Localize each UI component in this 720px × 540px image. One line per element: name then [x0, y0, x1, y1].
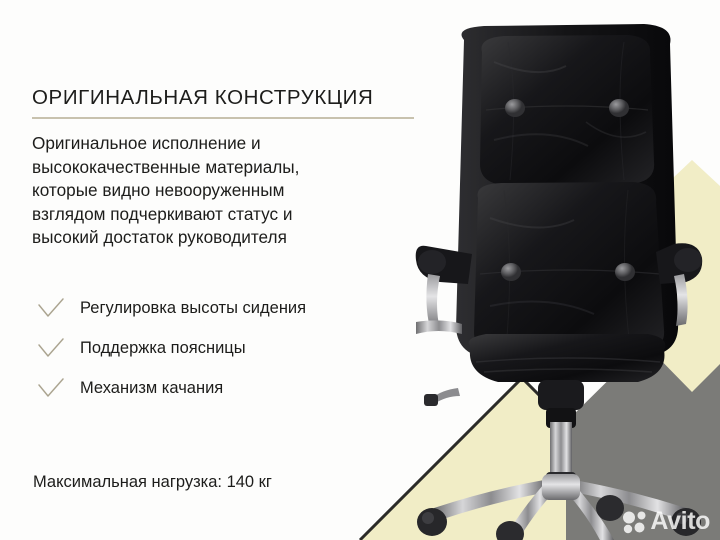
avito-dots-icon	[622, 510, 648, 534]
body-line: Оригинальное исполнение и	[32, 132, 432, 156]
list-item: Поддержка поясницы	[36, 328, 436, 368]
list-item-label: Поддержка поясницы	[80, 339, 246, 358]
check-icon	[36, 375, 66, 401]
title-divider	[32, 117, 414, 119]
background-shapes	[0, 0, 720, 540]
feature-list: Регулировка высоты сидения Поддержка поя…	[36, 288, 436, 408]
check-icon	[36, 295, 66, 321]
body-line: высокий достаток руководителя	[32, 226, 432, 250]
text-column: ОРИГИНАЛЬНАЯ КОНСТРУКЦИЯ Оригинальное ис…	[32, 86, 432, 250]
list-item-label: Регулировка высоты сидения	[80, 299, 306, 318]
avito-wordmark: Avito	[650, 509, 710, 534]
list-item: Механизм качания	[36, 368, 436, 408]
list-item-label: Механизм качания	[80, 379, 223, 398]
promo-card: ОРИГИНАЛЬНАЯ КОНСТРУКЦИЯ Оригинальное ис…	[0, 0, 720, 540]
body-line: высококачественные материалы,	[32, 156, 432, 180]
body-line: взглядом подчеркивают статус и	[32, 203, 432, 227]
max-load-note: Максимальная нагрузка: 140 кг	[33, 473, 272, 492]
check-icon	[36, 335, 66, 361]
list-item: Регулировка высоты сидения	[36, 288, 436, 328]
body-copy: Оригинальное исполнение и высококачестве…	[32, 132, 432, 250]
body-line: которые видно невооруженным	[32, 179, 432, 203]
avito-watermark: Avito	[622, 509, 710, 534]
page-title: ОРИГИНАЛЬНАЯ КОНСТРУКЦИЯ	[32, 86, 432, 110]
